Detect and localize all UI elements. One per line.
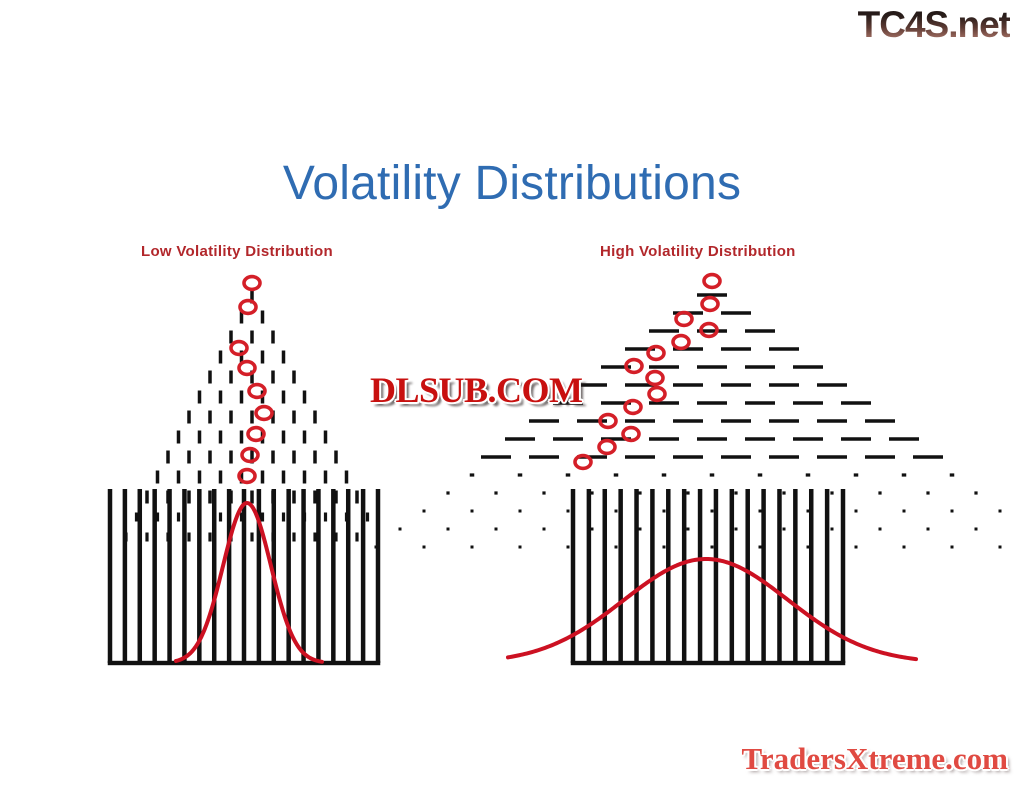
peg-dot xyxy=(471,546,474,549)
peg xyxy=(793,401,823,405)
high-volatility-bins xyxy=(571,489,846,665)
low-volatility-bell-curve xyxy=(176,503,322,662)
bin-divider xyxy=(257,489,262,663)
page-title: Volatility Distributions xyxy=(0,156,1024,211)
peg xyxy=(745,401,775,405)
bin-divider xyxy=(825,489,830,663)
bin-divider xyxy=(138,489,143,663)
peg xyxy=(769,383,799,387)
high-volatility-ball-path xyxy=(575,275,720,469)
peg-dot xyxy=(423,510,426,513)
bin-divider xyxy=(634,489,639,663)
peg xyxy=(229,491,233,504)
peg xyxy=(145,491,149,504)
bin-divider xyxy=(212,489,217,663)
peg xyxy=(303,471,307,484)
peg-dot xyxy=(313,533,316,542)
peg xyxy=(219,471,223,484)
peg xyxy=(673,347,703,351)
peg xyxy=(282,391,286,404)
peg xyxy=(769,419,799,423)
bin-divider xyxy=(286,489,291,663)
peg xyxy=(601,437,631,441)
low-volatility-pegs xyxy=(124,291,379,542)
peg-dot xyxy=(879,528,882,531)
peg xyxy=(625,383,655,387)
peg-dot xyxy=(615,546,618,549)
tradersxtreme-watermark: TradersXtreme.com xyxy=(741,741,1008,777)
peg-dot xyxy=(135,513,138,522)
bin-divider xyxy=(587,489,592,663)
peg xyxy=(793,365,823,369)
peg xyxy=(271,411,275,424)
peg xyxy=(649,365,679,369)
high-volatility-bell-curve xyxy=(508,559,916,659)
bin-divider xyxy=(272,489,277,663)
peg xyxy=(505,437,535,441)
bin-baseline xyxy=(108,661,381,665)
peg-dot xyxy=(951,510,954,513)
peg xyxy=(745,437,775,441)
peg xyxy=(187,451,191,464)
peg xyxy=(324,471,328,484)
peg xyxy=(261,391,265,404)
peg-dot xyxy=(663,510,666,513)
peg-dot xyxy=(423,546,426,549)
peg xyxy=(250,331,254,344)
peg-dot xyxy=(166,533,169,542)
peg xyxy=(177,431,181,444)
peg xyxy=(250,371,254,384)
ball-marker xyxy=(248,428,264,441)
peg-dot xyxy=(855,546,858,549)
peg xyxy=(518,473,523,476)
peg xyxy=(446,491,449,494)
ball-marker xyxy=(239,470,255,483)
peg xyxy=(625,347,655,351)
peg-dot xyxy=(711,546,714,549)
peg-dot xyxy=(711,510,714,513)
bell-curve-path xyxy=(176,503,322,662)
peg xyxy=(662,473,667,476)
peg xyxy=(229,331,233,344)
peg xyxy=(697,401,727,405)
high-volatility-heading: High Volatility Distribution xyxy=(600,243,796,260)
peg xyxy=(208,491,212,504)
peg xyxy=(686,491,689,494)
bell-curve-path xyxy=(508,559,916,659)
peg xyxy=(529,419,559,423)
peg xyxy=(710,473,715,476)
bin-divider xyxy=(331,489,336,663)
bin-divider xyxy=(571,489,576,663)
bin-divider xyxy=(809,489,814,663)
peg xyxy=(156,471,160,484)
peg xyxy=(649,329,679,333)
peg xyxy=(324,431,328,444)
peg-dot xyxy=(282,513,285,522)
peg-dot xyxy=(903,510,906,513)
peg xyxy=(271,491,275,504)
peg xyxy=(745,365,775,369)
bin-divider xyxy=(316,489,321,663)
peg xyxy=(187,491,191,504)
ball-marker xyxy=(647,372,663,385)
peg-dot xyxy=(303,513,306,522)
bin-divider xyxy=(182,489,187,663)
peg-dot xyxy=(999,510,1002,513)
peg-dot xyxy=(250,533,253,542)
peg-dot xyxy=(567,510,570,513)
peg xyxy=(841,437,871,441)
peg-dot xyxy=(471,510,474,513)
bin-divider xyxy=(682,489,687,663)
peg xyxy=(208,451,212,464)
peg-dot xyxy=(355,533,358,542)
ball-marker xyxy=(673,336,689,349)
peg xyxy=(878,491,881,494)
peg xyxy=(769,347,799,351)
peg xyxy=(313,451,317,464)
peg xyxy=(542,491,545,494)
peg xyxy=(166,451,170,464)
peg xyxy=(577,419,607,423)
peg xyxy=(614,473,619,476)
bin-divider xyxy=(603,489,608,663)
peg-dot xyxy=(447,528,450,531)
ball-marker xyxy=(625,401,641,414)
high-volatility-pegs xyxy=(375,293,1002,548)
peg xyxy=(261,351,265,364)
peg-dot xyxy=(177,513,180,522)
peg xyxy=(303,391,307,404)
peg-dot xyxy=(999,546,1002,549)
peg xyxy=(830,491,833,494)
bin-divider xyxy=(761,489,766,663)
peg xyxy=(721,311,751,315)
peg xyxy=(806,473,811,476)
bin-divider xyxy=(698,489,703,663)
ball-marker xyxy=(256,407,272,420)
peg xyxy=(721,383,751,387)
peg-dot xyxy=(903,546,906,549)
ball-marker xyxy=(244,277,260,290)
peg-dot xyxy=(240,513,243,522)
peg xyxy=(271,371,275,384)
bin-divider xyxy=(242,489,247,663)
peg xyxy=(625,455,655,459)
peg xyxy=(250,291,254,304)
peg-dot xyxy=(271,533,274,542)
peg xyxy=(219,431,223,444)
peg xyxy=(673,455,703,459)
peg xyxy=(697,365,727,369)
peg xyxy=(198,391,202,404)
peg xyxy=(198,471,202,484)
peg-dot xyxy=(345,513,348,522)
peg-dot xyxy=(376,533,379,542)
peg xyxy=(250,491,254,504)
peg xyxy=(553,437,583,441)
peg xyxy=(292,411,296,424)
bin-divider xyxy=(108,489,113,663)
peg-dot xyxy=(807,546,810,549)
peg-dot xyxy=(399,528,402,531)
peg xyxy=(208,411,212,424)
peg-dot xyxy=(261,513,264,522)
peg xyxy=(240,391,244,404)
ball-marker xyxy=(239,362,255,375)
peg-dot xyxy=(187,533,190,542)
ball-marker xyxy=(649,388,665,401)
peg xyxy=(470,473,475,476)
peg xyxy=(566,473,571,476)
peg xyxy=(721,455,751,459)
bin-divider xyxy=(227,489,232,663)
peg xyxy=(590,491,593,494)
peg xyxy=(261,431,265,444)
bin-divider xyxy=(666,489,671,663)
peg-dot xyxy=(735,528,738,531)
peg xyxy=(334,451,338,464)
low-volatility-ball-path xyxy=(231,277,272,483)
peg xyxy=(601,401,631,405)
peg xyxy=(638,491,641,494)
peg xyxy=(817,455,847,459)
peg xyxy=(649,437,679,441)
peg-dot xyxy=(759,546,762,549)
peg xyxy=(854,473,859,476)
bin-divider xyxy=(123,489,128,663)
ball-marker xyxy=(231,342,247,355)
peg xyxy=(240,431,244,444)
bin-divider xyxy=(650,489,655,663)
peg xyxy=(601,365,631,369)
low-volatility-heading: Low Volatility Distribution xyxy=(141,243,333,260)
peg xyxy=(974,491,977,494)
peg xyxy=(673,383,703,387)
peg-dot xyxy=(519,546,522,549)
peg xyxy=(481,455,511,459)
peg xyxy=(166,491,170,504)
ball-marker xyxy=(600,415,616,428)
peg xyxy=(817,383,847,387)
peg-dot xyxy=(124,533,127,542)
peg xyxy=(313,411,317,424)
peg xyxy=(793,437,823,441)
peg xyxy=(250,451,254,464)
peg xyxy=(261,471,265,484)
peg xyxy=(282,351,286,364)
ball-marker xyxy=(702,298,718,311)
tc4s-watermark: TC4S.net xyxy=(858,6,1010,43)
bin-divider xyxy=(714,489,719,663)
peg xyxy=(229,371,233,384)
peg-dot xyxy=(639,528,642,531)
peg xyxy=(282,431,286,444)
ball-marker xyxy=(626,360,642,373)
bin-divider xyxy=(361,489,366,663)
peg xyxy=(721,419,751,423)
peg xyxy=(208,371,212,384)
peg xyxy=(782,491,785,494)
ball-marker xyxy=(249,385,265,398)
peg xyxy=(271,451,275,464)
peg-dot xyxy=(334,533,337,542)
peg xyxy=(494,491,497,494)
ball-marker xyxy=(242,449,258,462)
bin-divider xyxy=(777,489,782,663)
bin-divider xyxy=(197,489,202,663)
peg-dot xyxy=(615,510,618,513)
peg xyxy=(345,471,349,484)
peg xyxy=(240,471,244,484)
peg xyxy=(673,311,703,315)
peg xyxy=(261,311,265,324)
peg xyxy=(577,455,607,459)
peg xyxy=(529,455,559,459)
low-volatility-bins xyxy=(108,489,381,665)
peg xyxy=(721,347,751,351)
bin-divider xyxy=(618,489,623,663)
peg xyxy=(250,411,254,424)
peg-dot xyxy=(208,533,211,542)
peg xyxy=(229,411,233,424)
peg xyxy=(697,329,727,333)
peg xyxy=(889,437,919,441)
ball-marker xyxy=(676,313,692,326)
peg xyxy=(313,491,317,504)
peg xyxy=(673,419,703,423)
bin-divider xyxy=(376,489,381,663)
peg-dot xyxy=(927,528,930,531)
peg xyxy=(334,491,338,504)
slide-canvas: TC4S.net Volatility Distributions Low Vo… xyxy=(0,0,1024,791)
bin-divider xyxy=(730,489,735,663)
peg xyxy=(219,351,223,364)
bin-divider xyxy=(745,489,750,663)
peg xyxy=(865,419,895,423)
peg xyxy=(734,491,737,494)
peg xyxy=(187,411,191,424)
peg-dot xyxy=(292,533,295,542)
peg xyxy=(950,473,955,476)
peg-dot xyxy=(156,513,159,522)
bin-divider xyxy=(346,489,351,663)
peg xyxy=(697,293,727,297)
peg-dot xyxy=(495,528,498,531)
ball-marker xyxy=(240,301,256,314)
ball-marker xyxy=(701,324,717,337)
peg xyxy=(625,419,655,423)
ball-marker xyxy=(704,275,720,288)
peg xyxy=(817,419,847,423)
peg xyxy=(902,473,907,476)
peg xyxy=(292,491,296,504)
peg xyxy=(865,455,895,459)
ball-marker xyxy=(623,428,639,441)
peg xyxy=(841,401,871,405)
peg-dot xyxy=(591,528,594,531)
peg-dot xyxy=(831,528,834,531)
peg-dot xyxy=(375,546,378,549)
peg-dot xyxy=(519,510,522,513)
peg-dot xyxy=(567,546,570,549)
peg xyxy=(198,431,202,444)
peg-dot xyxy=(687,528,690,531)
peg-dot xyxy=(366,513,369,522)
peg xyxy=(229,451,233,464)
peg xyxy=(240,311,244,324)
peg-dot xyxy=(324,513,327,522)
peg xyxy=(303,431,307,444)
peg-dot xyxy=(198,513,201,522)
peg-dot xyxy=(807,510,810,513)
peg xyxy=(913,455,943,459)
peg xyxy=(926,491,929,494)
peg xyxy=(649,401,679,405)
peg-dot xyxy=(229,533,232,542)
peg-dot xyxy=(145,533,148,542)
bin-divider xyxy=(152,489,157,663)
peg-dot xyxy=(855,510,858,513)
peg xyxy=(177,471,181,484)
peg xyxy=(769,455,799,459)
peg xyxy=(745,329,775,333)
ball-marker xyxy=(648,347,664,360)
peg-dot xyxy=(951,546,954,549)
peg xyxy=(240,351,244,364)
ball-marker xyxy=(599,441,615,454)
peg-dot xyxy=(759,510,762,513)
bin-baseline xyxy=(571,661,846,665)
peg xyxy=(271,331,275,344)
peg xyxy=(282,471,286,484)
dlsub-watermark: DLSUB.COM xyxy=(370,369,583,411)
peg-dot xyxy=(219,513,222,522)
bin-divider xyxy=(793,489,798,663)
bin-divider xyxy=(841,489,846,663)
peg xyxy=(292,451,296,464)
peg xyxy=(219,391,223,404)
peg-dot xyxy=(663,546,666,549)
ball-marker xyxy=(575,456,591,469)
peg xyxy=(355,491,359,504)
peg xyxy=(292,371,296,384)
peg-dot xyxy=(783,528,786,531)
bin-divider xyxy=(167,489,172,663)
bin-divider xyxy=(301,489,306,663)
peg xyxy=(697,437,727,441)
peg-dot xyxy=(975,528,978,531)
peg xyxy=(758,473,763,476)
peg-dot xyxy=(543,528,546,531)
